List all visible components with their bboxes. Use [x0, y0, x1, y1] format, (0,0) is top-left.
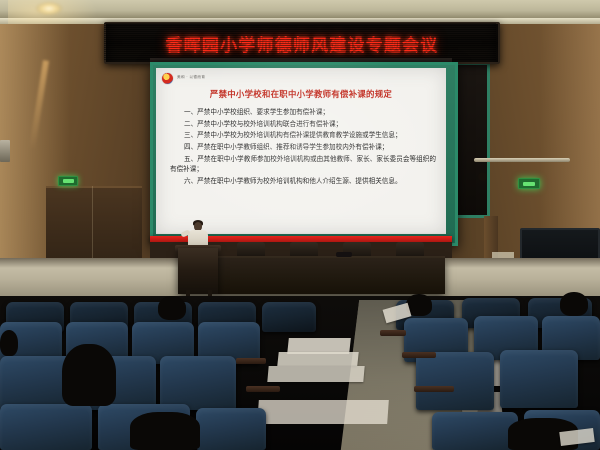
auditorium-seat[interactable]	[0, 404, 92, 450]
handout-sheet	[267, 366, 364, 382]
handout-sheet	[277, 352, 358, 366]
attendee	[130, 412, 200, 450]
attendee	[0, 330, 18, 356]
seat-armrest	[236, 358, 266, 364]
slide-item: 六、严禁在职中小学教师为校外培训机构和他人介绍生源、提供相关信息。	[170, 177, 436, 188]
wall-speaker	[0, 140, 10, 162]
head-table	[215, 258, 445, 294]
slide-item: 二、严禁中小学校与校外培训机构联合进行有偿补课；	[170, 120, 436, 131]
wall-handrail	[474, 158, 570, 162]
exit-running-man-glyph	[523, 182, 535, 186]
auditorium-seat[interactable]	[432, 412, 518, 450]
auditorium-seat[interactable]	[416, 352, 494, 410]
auditorium-seat[interactable]	[262, 302, 316, 332]
podium	[178, 248, 218, 294]
projection-screen: 美和 · 以德而育 严禁中小学校和在职中小学教师有偿补课的规定 一、严禁中小学校…	[156, 68, 446, 234]
exit-running-man-glyph	[63, 179, 74, 183]
attendee	[62, 344, 116, 406]
auditorium-seat[interactable]	[196, 408, 266, 450]
slide-item: 三、严禁中小学校为校外培训机构有偿补课提供教育教学设施或学生信息；	[170, 131, 436, 142]
exit-sign-icon	[58, 176, 78, 186]
auditorium-seat[interactable]	[160, 356, 236, 410]
slide-item: 一、严禁中小学校组织、要求学生参加有偿补课；	[170, 108, 436, 119]
wall-camera	[478, 172, 487, 181]
slide-item: 五、严禁在职中小学教师参加校外培训机构或由其他教师、家长、家长委员会等组织的有偿…	[170, 155, 436, 176]
seat-armrest	[380, 330, 406, 336]
led-banner-text: 香晖园小学师德师风建设专题会议	[166, 31, 439, 56]
attendee	[560, 292, 588, 316]
seat-armrest	[246, 386, 280, 392]
exit-sign-icon	[518, 178, 540, 189]
slide-item: 四、严禁在职中小学教师组织、推荐和诱导学生参加校内外有偿补课；	[170, 143, 436, 154]
table-microphone-icon	[336, 252, 352, 257]
school-emblem-icon	[162, 73, 173, 84]
auditorium-seat[interactable]	[500, 350, 578, 408]
handout-sheet-red-title	[257, 400, 389, 424]
attendee	[158, 296, 186, 320]
slide-body: 一、严禁中小学校组织、要求学生参加有偿补课； 二、严禁中小学校与校外培训机构联合…	[170, 108, 436, 189]
meeting-photo: 香晖园小学师德师风建设专题会议 美和 · 以德而育 严禁中小学校和在职中小学教师…	[0, 0, 600, 450]
seat-armrest	[402, 352, 436, 358]
seat-armrest	[414, 386, 454, 392]
ceiling-light-icon	[36, 2, 62, 15]
school-emblem-caption: 美和 · 以德而育	[177, 75, 205, 80]
slide-title: 严禁中小学校和在职中小学教师有偿补课的规定	[156, 88, 446, 100]
